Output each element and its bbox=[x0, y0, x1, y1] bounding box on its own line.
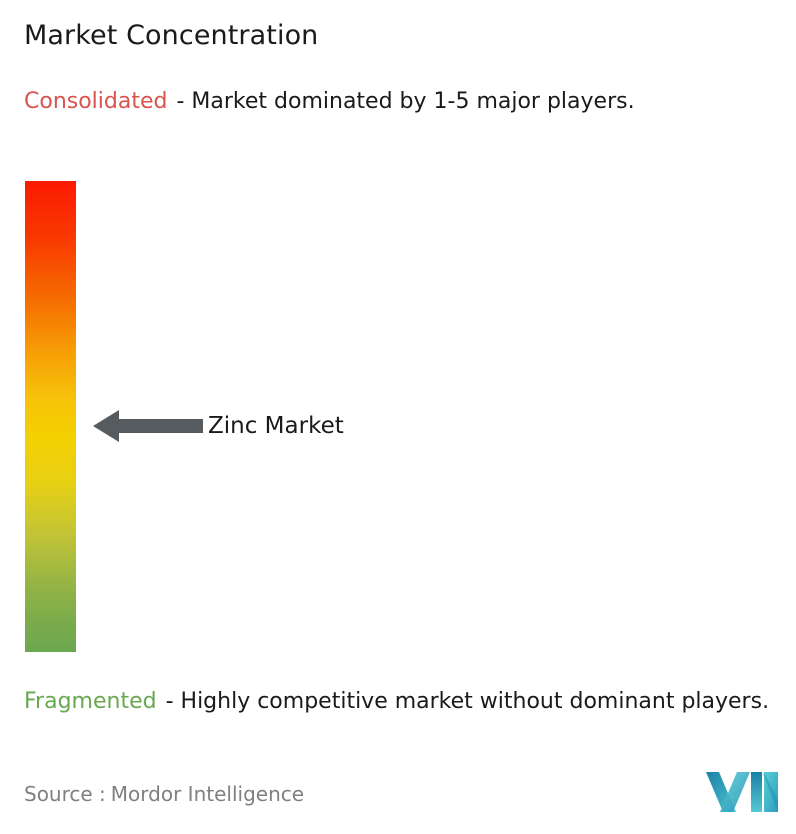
legend-consolidated-description: - Market dominated by 1-5 major players. bbox=[176, 89, 634, 114]
concentration-gradient-bar bbox=[25, 181, 76, 652]
left-arrow-icon bbox=[93, 405, 203, 447]
mordor-intelligence-logo-icon bbox=[706, 772, 778, 812]
legend-fragmented: Fragmented- Highly competitive market wi… bbox=[24, 686, 792, 718]
market-pointer-label: Zinc Market bbox=[208, 407, 344, 445]
source-attribution: Source :Mordor Intelligence bbox=[24, 782, 304, 806]
market-concentration-chart: Market Concentration Consolidated- Marke… bbox=[0, 0, 796, 834]
source-label: Source : bbox=[24, 782, 106, 806]
source-value: Mordor Intelligence bbox=[111, 782, 304, 806]
legend-fragmented-keyword: Fragmented bbox=[24, 689, 157, 714]
legend-consolidated: Consolidated- Market dominated by 1-5 ma… bbox=[24, 86, 776, 118]
page-title: Market Concentration bbox=[24, 20, 318, 51]
legend-consolidated-keyword: Consolidated bbox=[24, 89, 167, 114]
legend-fragmented-description: - Highly competitive market without domi… bbox=[166, 689, 769, 714]
